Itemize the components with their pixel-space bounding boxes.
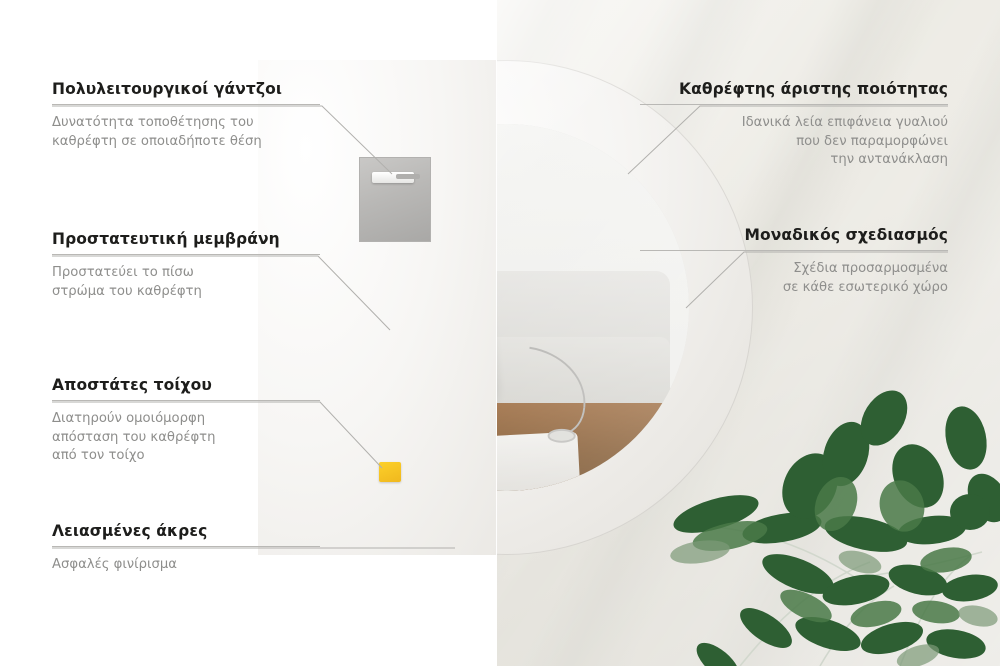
foreground-plant-foliage (670, 366, 1000, 666)
callout-title: Προστατευτική μεμβράνη (52, 230, 320, 248)
callout-rule (52, 400, 320, 401)
callout-rule (640, 250, 948, 251)
callout-smoothed-edges: Λειασμένες άκρες Ασφαλές φινίρισμα (52, 522, 320, 575)
callout-description: Προστατεύει το πίσω στρώμα του καθρέφτη (52, 264, 320, 301)
callout-multifunctional-hooks: Πολυλειτουργικοί γάντζοι Δυνατότητα τοπο… (52, 80, 320, 151)
callout-description: Σχέδια προσαρμοσμένα σε κάθε εσωτερικό χ… (640, 260, 948, 297)
callout-protective-membrane: Προστατευτική μεμβράνη Προστατεύει το πί… (52, 230, 320, 301)
callout-rule (52, 104, 320, 105)
callout-title: Λειασμένες άκρες (52, 522, 320, 540)
callout-description: Ιδανικά λεία επιφάνεια γυαλιού που δεν π… (640, 114, 948, 170)
callout-title: Πολυλειτουργικοί γάντζοι (52, 80, 320, 98)
callout-title: Αποστάτες τοίχου (52, 376, 320, 394)
infographic-canvas: Πολυλειτουργικοί γάντζοι Δυνατότητα τοπο… (0, 0, 1000, 666)
callout-top-quality-mirror: Καθρέφτης άριστης ποιότητας Ιδανικά λεία… (640, 80, 948, 170)
callout-rule (640, 104, 948, 105)
callout-unique-design: Μοναδικός σχεδιασμός Σχέδια προσαρμοσμέν… (640, 226, 948, 297)
callout-description: Διατηρούν ομοιόμορφη απόσταση του καθρέφ… (52, 410, 320, 466)
callout-description: Δυνατότητα τοποθέτησης του καθρέφτη σε ο… (52, 114, 320, 151)
callout-wall-spacers: Αποστάτες τοίχου Διατηρούν ομοιόμορφη απ… (52, 376, 320, 466)
callout-title: Καθρέφτης άριστης ποιότητας (640, 80, 948, 98)
callout-description: Ασφαλές φινίρισμα (52, 556, 320, 575)
callout-rule (52, 546, 320, 547)
callout-title: Μοναδικός σχεδιασμός (640, 226, 948, 244)
callout-rule (52, 254, 320, 255)
